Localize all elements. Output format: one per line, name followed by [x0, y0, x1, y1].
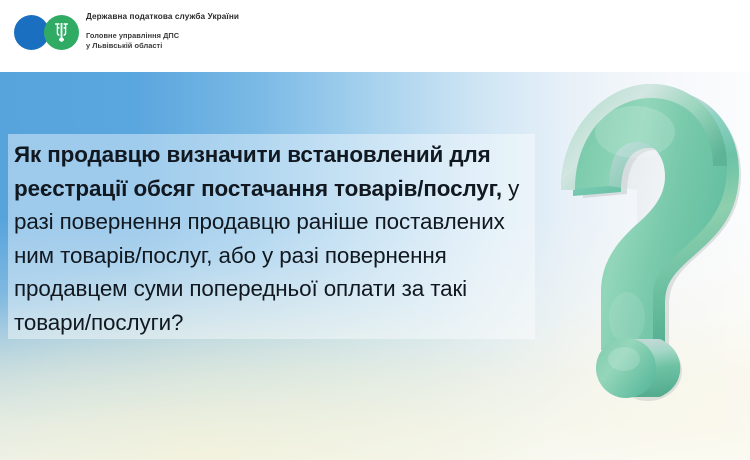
slide-canvas: Державна податкова служба України Головн… — [0, 0, 750, 460]
department-title: Головне управління ДПС у Львівській обла… — [86, 31, 486, 50]
question-text: Як продавцю визначити встановлений для р… — [14, 138, 538, 340]
content-stage: Як продавцю визначити встановлений для р… — [0, 72, 750, 460]
ukraine-trident-icon — [53, 22, 70, 43]
department-line-1: Головне управління ДПС — [86, 31, 486, 41]
dps-logo — [12, 12, 90, 52]
organization-title: Державна податкова служба України — [86, 11, 486, 22]
header-text-group: Державна податкова служба України Головн… — [86, 11, 486, 50]
header-bar: Державна податкова служба України Головн… — [0, 0, 750, 72]
question-mark-dot-icon — [586, 327, 696, 407]
department-line-2: у Львівській області — [86, 41, 486, 51]
question-text-bold: Як продавцю визначити встановлений для р… — [14, 142, 502, 201]
